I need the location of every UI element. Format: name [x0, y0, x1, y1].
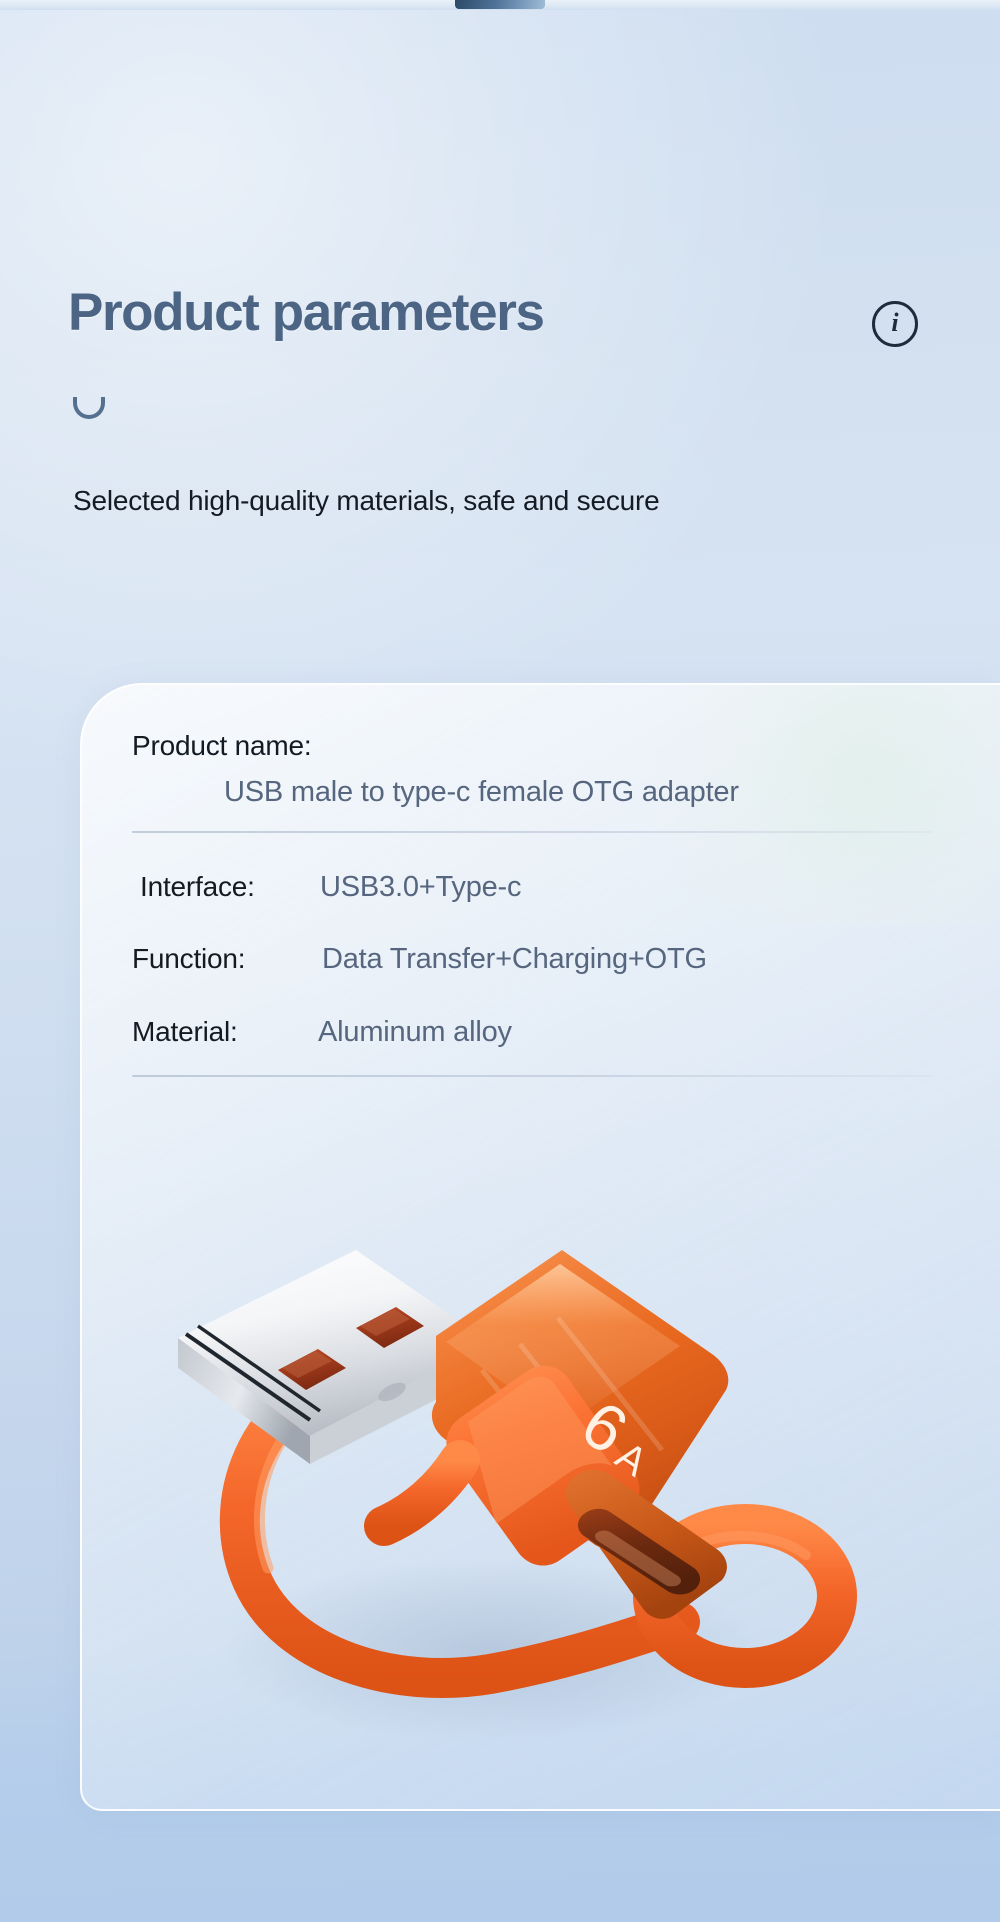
- spec-card: Product name: USB male to type-c female …: [80, 683, 1000, 1811]
- spec-row-product-name: Product name: USB male to type-c female …: [132, 730, 932, 809]
- spec-value: Data Transfer+Charging+OTG: [322, 943, 707, 976]
- spec-row-material: Material: Aluminum alloy: [132, 1016, 932, 1049]
- spec-key: Function:: [132, 943, 322, 975]
- title-underline-arc-decoration: [73, 397, 105, 419]
- product-parameters-page: Product parameters i Selected high-quali…: [0, 0, 1000, 1922]
- previous-section-chip: [455, 0, 545, 9]
- spec-row-function: Function: Data Transfer+Charging+OTG: [132, 943, 932, 976]
- info-circle-icon[interactable]: i: [872, 301, 918, 347]
- spec-divider: [132, 1075, 932, 1077]
- spec-table: Product name: USB male to type-c female …: [132, 730, 932, 1077]
- spec-key: Product name:: [132, 730, 932, 762]
- spec-value: USB male to type-c female OTG adapter: [224, 776, 932, 809]
- spec-row-interface: Interface: USB3.0+Type-c: [132, 871, 932, 904]
- spec-key: Interface:: [140, 871, 320, 903]
- page-subtitle: Selected high-quality materials, safe an…: [73, 485, 660, 517]
- spec-value: USB3.0+Type-c: [320, 871, 521, 904]
- page-title: Product parameters: [68, 282, 544, 343]
- previous-section-sliver: [0, 0, 1000, 10]
- spec-key: Material:: [132, 1016, 318, 1048]
- spec-value: Aluminum alloy: [318, 1016, 512, 1049]
- spec-divider: [132, 831, 932, 833]
- info-icon-glyph: i: [891, 310, 898, 336]
